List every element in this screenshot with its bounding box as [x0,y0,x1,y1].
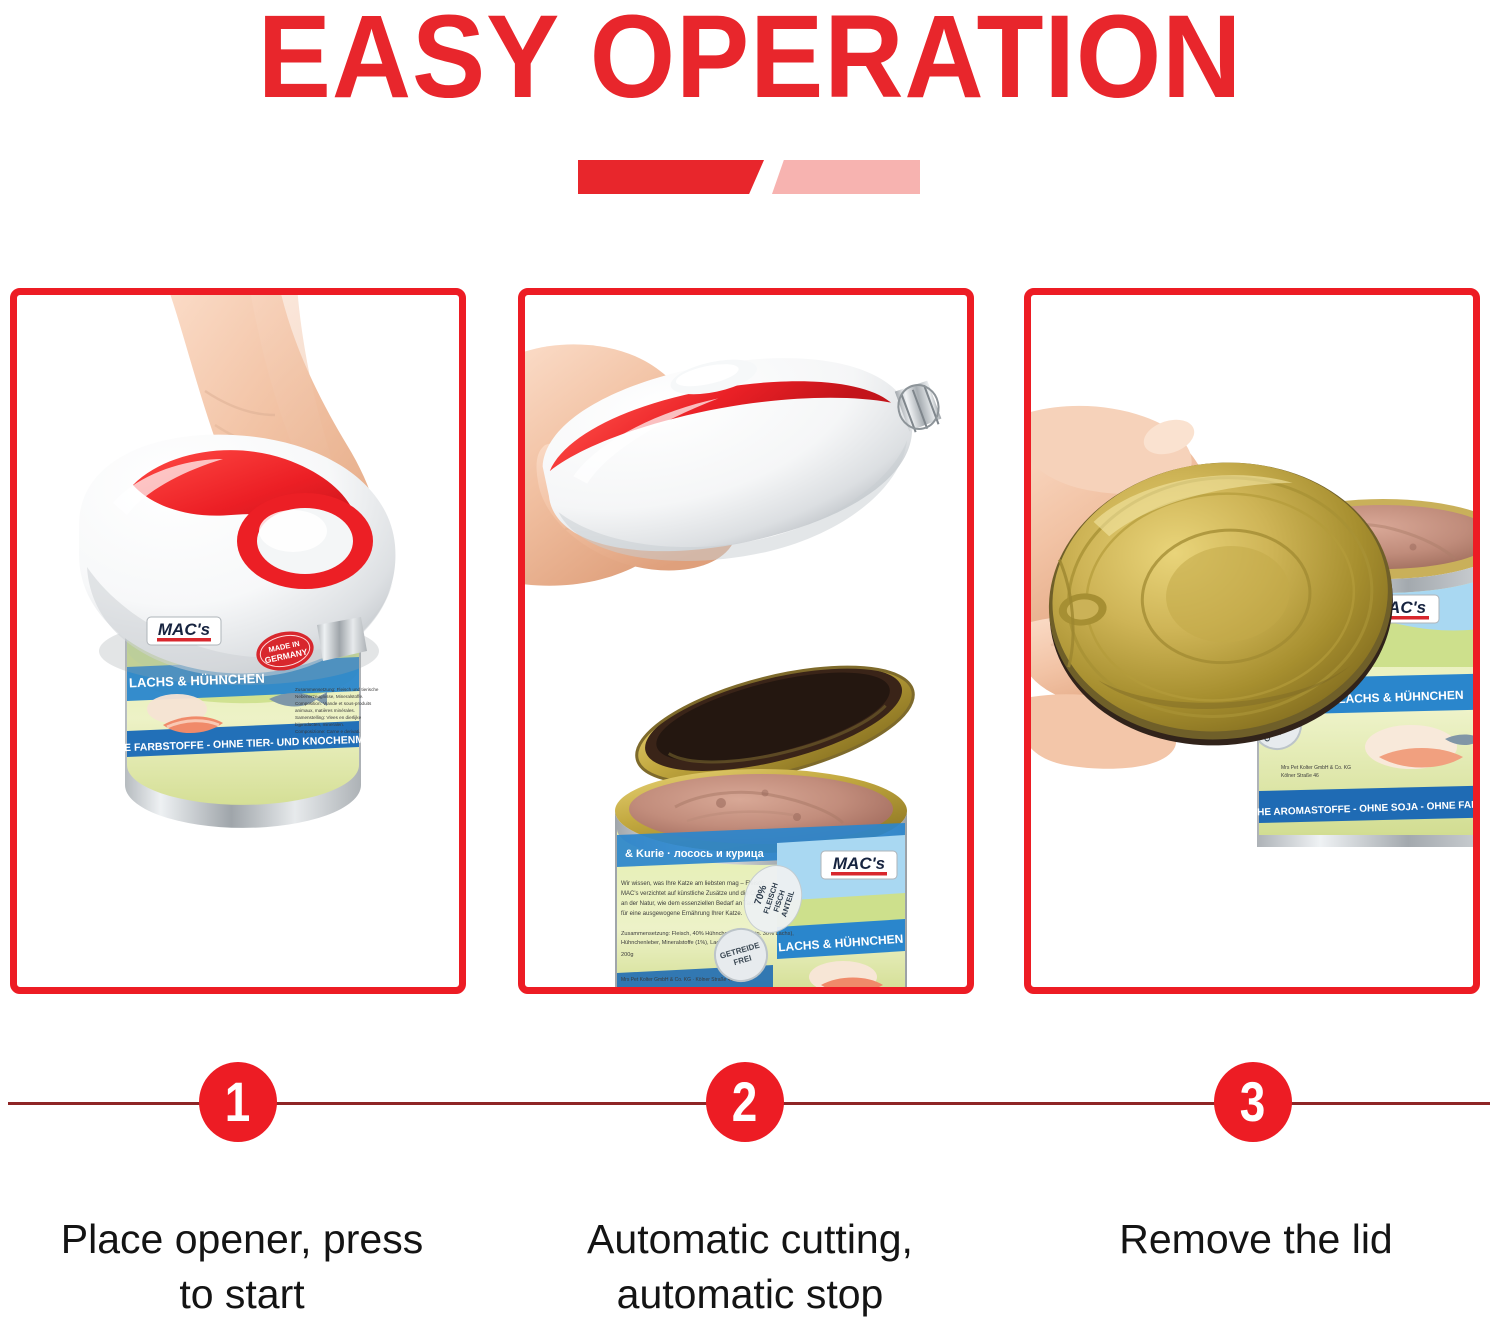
svg-text:Kölner Straße 46: Kölner Straße 46 [1281,773,1319,779]
svg-text:& Kurie · лосось и курица: & Kurie · лосось и курица [625,848,765,860]
svg-text:Mrs Pet Kolter GmbH & Co. KG ·: Mrs Pet Kolter GmbH & Co. KG · Kölner St… [621,977,733,983]
svg-text:Composizione: Carne e derivati: Composizione: Carne e derivati. [295,729,360,734]
step-number-strip: 1 2 3 [0,1062,1500,1146]
svg-text:200g: 200g [621,952,633,958]
svg-text:für eine ausgewogene Ernährung: für eine ausgewogene Ernährung Ihrer Kat… [621,911,743,917]
step-badge-1-label: 1 [225,1074,251,1130]
svg-text:MAC's: MAC's [833,854,885,873]
page-title: EASY OPERATION [53,0,1448,121]
step-badge-2: 2 [706,1062,784,1142]
step-3-photo: MAC's 70% FLEISCH FISCH ANTEIL GETREIDE [1031,295,1473,987]
step-3-photo-panel: MAC's 70% FLEISCH FISCH ANTEIL GETREIDE [1024,288,1480,994]
svg-text:animaux, matières minérales.: animaux, matières minérales. [295,708,355,713]
step-2-photo: & Kurie · лосось и курица Wir wissen, wa… [525,295,967,987]
step-caption-3: Remove the lid [1006,1212,1500,1267]
step-badge-1: 1 [199,1062,277,1142]
svg-text:Wir wissen, was Ihre Katze am: Wir wissen, was Ihre Katze am liebsten m… [621,881,766,887]
svg-text:Zusammensetzung: Fleisch und t: Zusammensetzung: Fleisch und tierische [295,687,379,692]
divider-bar-light [772,160,920,194]
title-divider [0,160,1500,194]
step-caption-1: Place opener, press to start [0,1212,492,1321]
step-badge-3-label: 3 [1240,1074,1266,1130]
svg-text:Nebenerzeugnisse, Mineralstoff: Nebenerzeugnisse, Mineralstoffe. [295,694,363,699]
svg-text:bijproducten, mineralen.: bijproducten, mineralen. [295,722,344,727]
divider-bar-solid [578,160,764,194]
step-photos: MAC's LACHS & HÜHNCHEN MADE IN GERMANY O… [0,288,1500,994]
step-captions: Place opener, press to start Automatic c… [0,1212,1500,1342]
svg-text:Samenstelling: Vlees en dierli: Samenstelling: Vlees en dierlijke [295,715,362,720]
step-caption-2: Automatic cutting, automatic stop [500,1212,1000,1321]
step-badge-2-label: 2 [732,1074,758,1130]
step-1-photo: MAC's LACHS & HÜHNCHEN MADE IN GERMANY O… [17,295,459,987]
step-2-photo-panel: & Kurie · лосось и курица Wir wissen, wa… [518,288,974,994]
step-1-photo-panel: MAC's LACHS & HÜHNCHEN MADE IN GERMANY O… [10,288,466,994]
svg-text:Composition: Viande et sous-pr: Composition: Viande et sous-produits [295,701,372,706]
step-badge-3: 3 [1214,1062,1292,1142]
svg-text:Mrs Pet Kolter GmbH & Co. KG: Mrs Pet Kolter GmbH & Co. KG [1281,765,1351,771]
svg-text:MAC's: MAC's [158,620,210,639]
